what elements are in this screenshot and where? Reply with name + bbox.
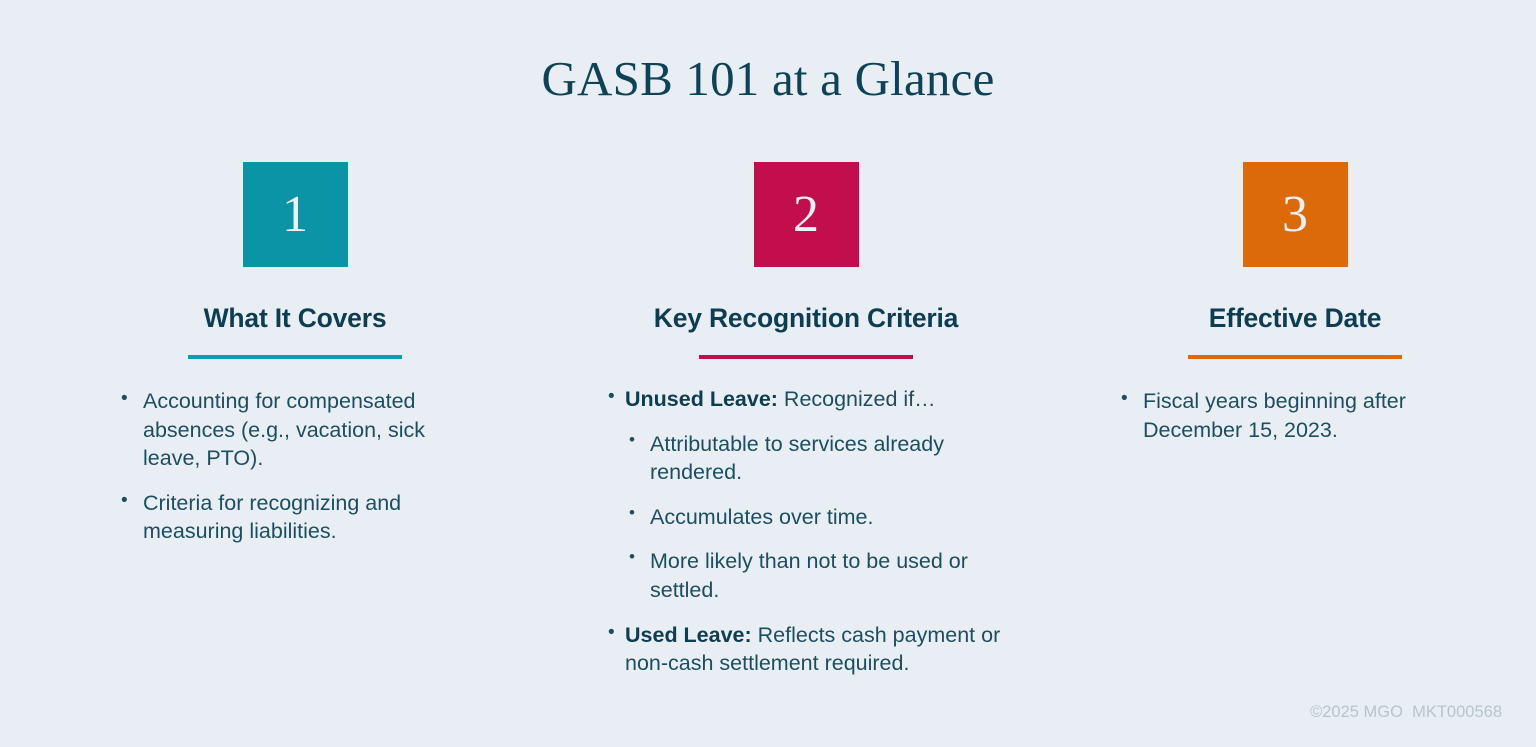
sub-bullet-list: Attributable to services already rendere…	[625, 430, 1016, 605]
column-heading-3: Effective Date	[1110, 303, 1480, 334]
sub-bullet-text: Accumulates over time.	[650, 505, 873, 529]
bullet-lead: Used Leave:	[625, 623, 752, 647]
list-item: Attributable to services already rendere…	[625, 430, 1016, 487]
bullet-text: Criteria for recognizing and measuring l…	[143, 491, 401, 544]
page-title: GASB 101 at a Glance	[0, 50, 1536, 107]
column-rule-1	[188, 355, 402, 359]
list-item: Accounting for compensated absences (e.g…	[110, 387, 480, 473]
list-item: Criteria for recognizing and measuring l…	[110, 489, 480, 546]
bullet-text: Accounting for compensated absences (e.g…	[143, 389, 425, 470]
column-effective-date: 3 Effective Date Fiscal years beginning …	[1110, 162, 1480, 466]
slide-canvas: GASB 101 at a Glance 1 What It Covers Ac…	[0, 0, 1536, 747]
column-key-recognition-criteria: 2 Key Recognition Criteria Unused Leave:…	[596, 162, 1016, 699]
sub-bullet-text: Attributable to services already rendere…	[650, 432, 944, 485]
bullet-list-3: Fiscal years beginning after December 15…	[1110, 387, 1480, 444]
number-badge-3: 3	[1243, 162, 1348, 267]
column-what-it-covers: 1 What It Covers Accounting for compensa…	[110, 162, 480, 567]
list-item: Used Leave: Reflects cash payment or non…	[596, 621, 1016, 678]
list-item: More likely than not to be used or settl…	[625, 547, 1016, 604]
columns-container: 1 What It Covers Accounting for compensa…	[0, 162, 1536, 692]
bullet-text: Recognized if…	[778, 387, 936, 411]
sub-bullet-text: More likely than not to be used or settl…	[650, 549, 968, 602]
list-item: Unused Leave: Recognized if… Attributabl…	[596, 385, 1016, 605]
list-item: Accumulates over time.	[625, 503, 1016, 532]
bullet-list-1: Accounting for compensated absences (e.g…	[110, 387, 480, 546]
bullet-list-2: Unused Leave: Recognized if… Attributabl…	[596, 385, 1016, 678]
list-item: Fiscal years beginning after December 15…	[1110, 387, 1480, 444]
bullet-text: Fiscal years beginning after December 15…	[1143, 389, 1406, 442]
column-rule-3	[1188, 355, 1402, 359]
bullet-lead: Unused Leave:	[625, 387, 778, 411]
number-badge-1: 1	[243, 162, 348, 267]
column-rule-2	[699, 355, 913, 359]
column-heading-1: What It Covers	[110, 303, 480, 334]
column-heading-2: Key Recognition Criteria	[596, 303, 1016, 334]
footer-copyright: ©2025 MGO MKT000568	[1310, 703, 1502, 722]
number-badge-2: 2	[754, 162, 859, 267]
